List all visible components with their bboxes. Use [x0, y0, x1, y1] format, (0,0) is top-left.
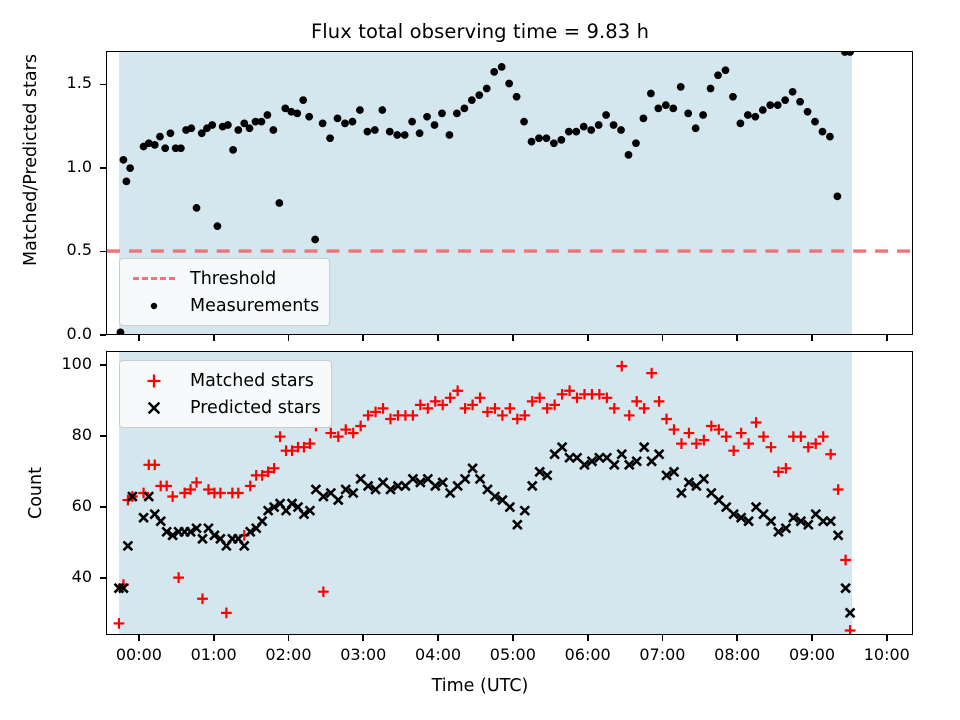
data-point: [156, 517, 165, 526]
data-point: [846, 52, 854, 56]
data-point: [475, 91, 483, 99]
data-point: [728, 445, 739, 456]
data-point: [684, 428, 695, 439]
data-point: [299, 96, 307, 104]
data-point: [655, 450, 664, 459]
data-point: [407, 410, 418, 421]
data-point: [699, 111, 707, 119]
data-point: [167, 129, 175, 137]
data-point: [625, 151, 633, 159]
legend-label-threshold: Threshold: [180, 269, 276, 289]
data-point: [647, 90, 655, 98]
data-point: [197, 593, 208, 604]
data-point: [729, 93, 737, 101]
data-point: [676, 438, 687, 449]
data-point: [476, 475, 485, 484]
data-point: [646, 368, 657, 379]
x-axis-tick-label: 03:00: [323, 645, 403, 664]
data-point: [214, 222, 222, 230]
data-point: [475, 392, 486, 403]
data-point: [483, 85, 491, 93]
data-point: [595, 121, 603, 129]
data-point: [446, 131, 454, 139]
data-point: [826, 517, 835, 526]
x-axis-tick-label: 00:00: [99, 645, 179, 664]
data-point: [490, 68, 498, 76]
tick-mark: [886, 335, 888, 341]
data-point: [825, 449, 836, 460]
data-point: [229, 146, 237, 154]
x-axis-tick-label: 09:00: [772, 645, 852, 664]
tick-mark: [886, 635, 888, 641]
data-point: [639, 403, 650, 414]
data-point: [408, 118, 416, 126]
data-point: [334, 496, 343, 505]
tick-mark: [138, 635, 140, 641]
data-point: [640, 114, 648, 122]
data-point: [818, 431, 829, 442]
data-point: [758, 431, 769, 442]
x-axis-tick-label: 07:00: [622, 645, 702, 664]
data-point: [520, 506, 529, 515]
data-point: [305, 113, 313, 121]
tick-mark: [811, 635, 813, 641]
data-point: [393, 131, 401, 139]
data-point: [461, 475, 470, 484]
tick-mark: [587, 635, 589, 641]
data-point: [565, 128, 573, 136]
y-axis-tick-label: 1.0: [32, 157, 92, 176]
data-point: [233, 488, 244, 499]
data-point: [117, 328, 125, 334]
data-point: [535, 134, 543, 142]
data-point: [609, 403, 620, 414]
data-point: [743, 438, 754, 449]
tick-mark: [100, 364, 106, 366]
data-point: [845, 625, 856, 634]
legend-label-measurements: Measurements: [180, 296, 319, 316]
x-axis-tick-label: 01:00: [174, 645, 254, 664]
data-point: [834, 531, 843, 540]
tick-mark: [100, 334, 106, 336]
data-point: [751, 417, 762, 428]
data-point: [721, 431, 732, 442]
tick-mark: [288, 635, 290, 641]
data-point: [245, 481, 256, 492]
data-point: [707, 85, 715, 93]
data-point: [438, 110, 446, 118]
tick-mark: [100, 251, 106, 253]
data-point: [453, 110, 461, 118]
x-axis-tick-label: 02:00: [248, 645, 328, 664]
tick-mark: [100, 577, 106, 579]
data-point: [766, 101, 774, 109]
data-point: [234, 126, 242, 134]
bottom-panel-legend: Matched stars Predicted stars: [119, 360, 332, 428]
data-point: [293, 110, 301, 118]
data-point: [617, 450, 626, 459]
data-point: [677, 489, 686, 498]
bottom-panel-y-axis-label: Count: [26, 453, 46, 533]
data-point: [139, 513, 148, 522]
data-point: [275, 431, 286, 442]
data-point: [699, 475, 708, 484]
data-point: [550, 139, 558, 147]
data-point: [528, 138, 536, 146]
data-point: [349, 118, 357, 126]
top-panel-legend: Threshold Measurements: [119, 258, 330, 326]
y-axis-tick-label: 80: [32, 425, 92, 444]
data-point: [819, 128, 827, 136]
data-point: [557, 136, 565, 144]
legend-label-predicted-stars: Predicted stars: [180, 398, 321, 418]
data-point: [654, 105, 662, 113]
data-point: [736, 428, 747, 439]
data-point: [796, 98, 804, 106]
data-point: [356, 106, 364, 114]
legend-item-measurements: Measurements: [128, 292, 319, 319]
data-point: [378, 106, 386, 114]
data-point: [319, 119, 327, 127]
predicted-stars-scatter: [115, 443, 855, 617]
data-point: [692, 124, 700, 132]
tick-mark: [213, 635, 215, 641]
dot-marker-icon: [128, 298, 180, 314]
data-point: [841, 584, 850, 593]
data-point: [215, 488, 226, 499]
data-point: [156, 133, 164, 141]
data-point: [452, 385, 463, 396]
tick-mark: [736, 335, 738, 341]
data-point: [341, 119, 349, 127]
y-axis-tick-label: 0.0: [32, 324, 92, 343]
data-point: [114, 618, 125, 629]
tick-mark: [437, 335, 439, 341]
data-point: [846, 608, 855, 617]
tick-mark: [213, 335, 215, 341]
x-axis-tick-label: 04:00: [398, 645, 478, 664]
data-point: [355, 421, 366, 432]
data-point: [528, 482, 537, 491]
data-point: [460, 105, 468, 113]
data-point: [610, 121, 618, 129]
legend-item-predicted-stars: Predicted stars: [128, 394, 321, 421]
data-point: [386, 128, 394, 136]
data-point: [766, 442, 777, 453]
data-point: [120, 156, 128, 164]
data-point: [640, 443, 649, 452]
data-point: [224, 121, 232, 129]
x-axis-tick-label: 06:00: [548, 645, 628, 664]
data-point: [662, 101, 670, 109]
data-point: [789, 88, 797, 96]
tick-mark: [362, 335, 364, 341]
data-point: [123, 541, 132, 550]
tick-mark: [587, 335, 589, 341]
data-point: [834, 192, 842, 200]
data-point: [617, 126, 625, 134]
data-point: [326, 134, 334, 142]
data-point: [161, 144, 169, 152]
data-point: [187, 124, 195, 132]
tick-mark: [437, 635, 439, 641]
data-point: [631, 396, 642, 407]
data-point: [632, 139, 640, 147]
data-point: [504, 403, 515, 414]
data-point: [311, 236, 319, 244]
data-point: [371, 126, 379, 134]
y-axis-tick-label: 40: [32, 567, 92, 586]
data-point: [198, 534, 207, 543]
data-point: [759, 106, 767, 114]
data-point: [264, 111, 272, 119]
data-point: [543, 134, 551, 142]
data-point: [587, 126, 595, 134]
plus-marker-icon: [128, 372, 180, 390]
data-point: [751, 113, 759, 121]
data-point: [363, 128, 371, 136]
data-point: [558, 443, 567, 452]
data-point: [151, 141, 159, 149]
data-point: [445, 392, 456, 403]
data-point: [468, 464, 477, 473]
y-axis-tick-label: 1.5: [32, 73, 92, 92]
data-point: [714, 71, 722, 79]
data-point: [416, 129, 424, 137]
data-point: [684, 110, 692, 118]
data-point: [258, 517, 267, 526]
legend-item-threshold: Threshold: [128, 265, 319, 292]
data-point: [208, 121, 216, 129]
data-point: [616, 361, 627, 372]
data-point: [167, 491, 178, 502]
cross-marker-icon: [128, 399, 180, 417]
data-point: [497, 410, 508, 421]
tick-mark: [512, 335, 514, 341]
data-point: [833, 484, 844, 495]
data-point: [126, 164, 134, 172]
data-point: [840, 555, 851, 566]
data-point: [610, 460, 619, 469]
tick-mark: [138, 335, 140, 341]
data-point: [191, 477, 202, 488]
data-point: [269, 126, 277, 134]
x-axis-tick-label: 05:00: [473, 645, 553, 664]
data-point: [505, 503, 514, 512]
data-point: [161, 481, 172, 492]
y-axis-tick-label: 100: [32, 354, 92, 373]
tick-mark: [811, 335, 813, 341]
data-point: [505, 80, 513, 88]
x-axis-tick-label: 10:00: [847, 645, 927, 664]
tick-mark: [100, 506, 106, 508]
data-point: [661, 414, 672, 425]
data-point: [677, 83, 685, 91]
data-point: [513, 520, 522, 529]
data-point: [173, 572, 184, 583]
data-point: [221, 607, 232, 618]
data-point: [669, 105, 677, 113]
data-point: [193, 204, 201, 212]
tick-mark: [512, 635, 514, 641]
data-point: [811, 118, 819, 126]
data-point: [520, 118, 528, 126]
data-point: [123, 178, 131, 186]
data-point: [602, 111, 610, 119]
y-axis-tick-label: 0.5: [32, 240, 92, 259]
figure-title: Flux total observing time = 9.83 h: [0, 20, 960, 43]
data-point: [468, 96, 476, 104]
data-point: [669, 424, 680, 435]
tick-mark: [288, 335, 290, 341]
data-point: [781, 96, 789, 104]
data-point: [275, 199, 283, 207]
tick-mark: [662, 335, 664, 341]
data-point: [737, 119, 745, 127]
figure-canvas: Flux total observing time = 9.83 h Match…: [0, 0, 960, 720]
data-point: [431, 121, 439, 129]
tick-mark: [100, 167, 106, 169]
data-point: [572, 128, 580, 136]
data-point: [767, 517, 776, 526]
data-point: [744, 111, 752, 119]
data-point: [246, 124, 254, 132]
data-point: [654, 396, 665, 407]
data-point: [423, 113, 431, 121]
data-point: [795, 431, 806, 442]
tick-mark: [362, 635, 364, 641]
data-point: [513, 93, 521, 101]
tick-mark: [736, 635, 738, 641]
data-point: [334, 114, 342, 122]
data-point: [580, 123, 588, 131]
data-point: [177, 144, 185, 152]
legend-item-matched-stars: Matched stars: [128, 367, 321, 394]
data-point: [401, 131, 409, 139]
data-point: [624, 410, 635, 421]
x-axis-tick-label: 08:00: [697, 645, 777, 664]
data-point: [774, 101, 782, 109]
data-point: [240, 541, 249, 550]
y-axis-tick-label: 60: [32, 496, 92, 515]
data-point: [149, 459, 160, 470]
dashed-line-icon: [128, 277, 180, 280]
data-point: [498, 63, 506, 71]
tick-mark: [662, 635, 664, 641]
data-point: [804, 108, 812, 116]
data-point: [258, 118, 266, 126]
data-point: [318, 586, 329, 597]
x-axis-label: Time (UTC): [0, 676, 960, 696]
tick-mark: [100, 84, 106, 86]
legend-label-matched-stars: Matched stars: [180, 371, 314, 391]
tick-mark: [100, 435, 106, 437]
data-point: [722, 66, 730, 74]
data-point: [826, 133, 834, 141]
